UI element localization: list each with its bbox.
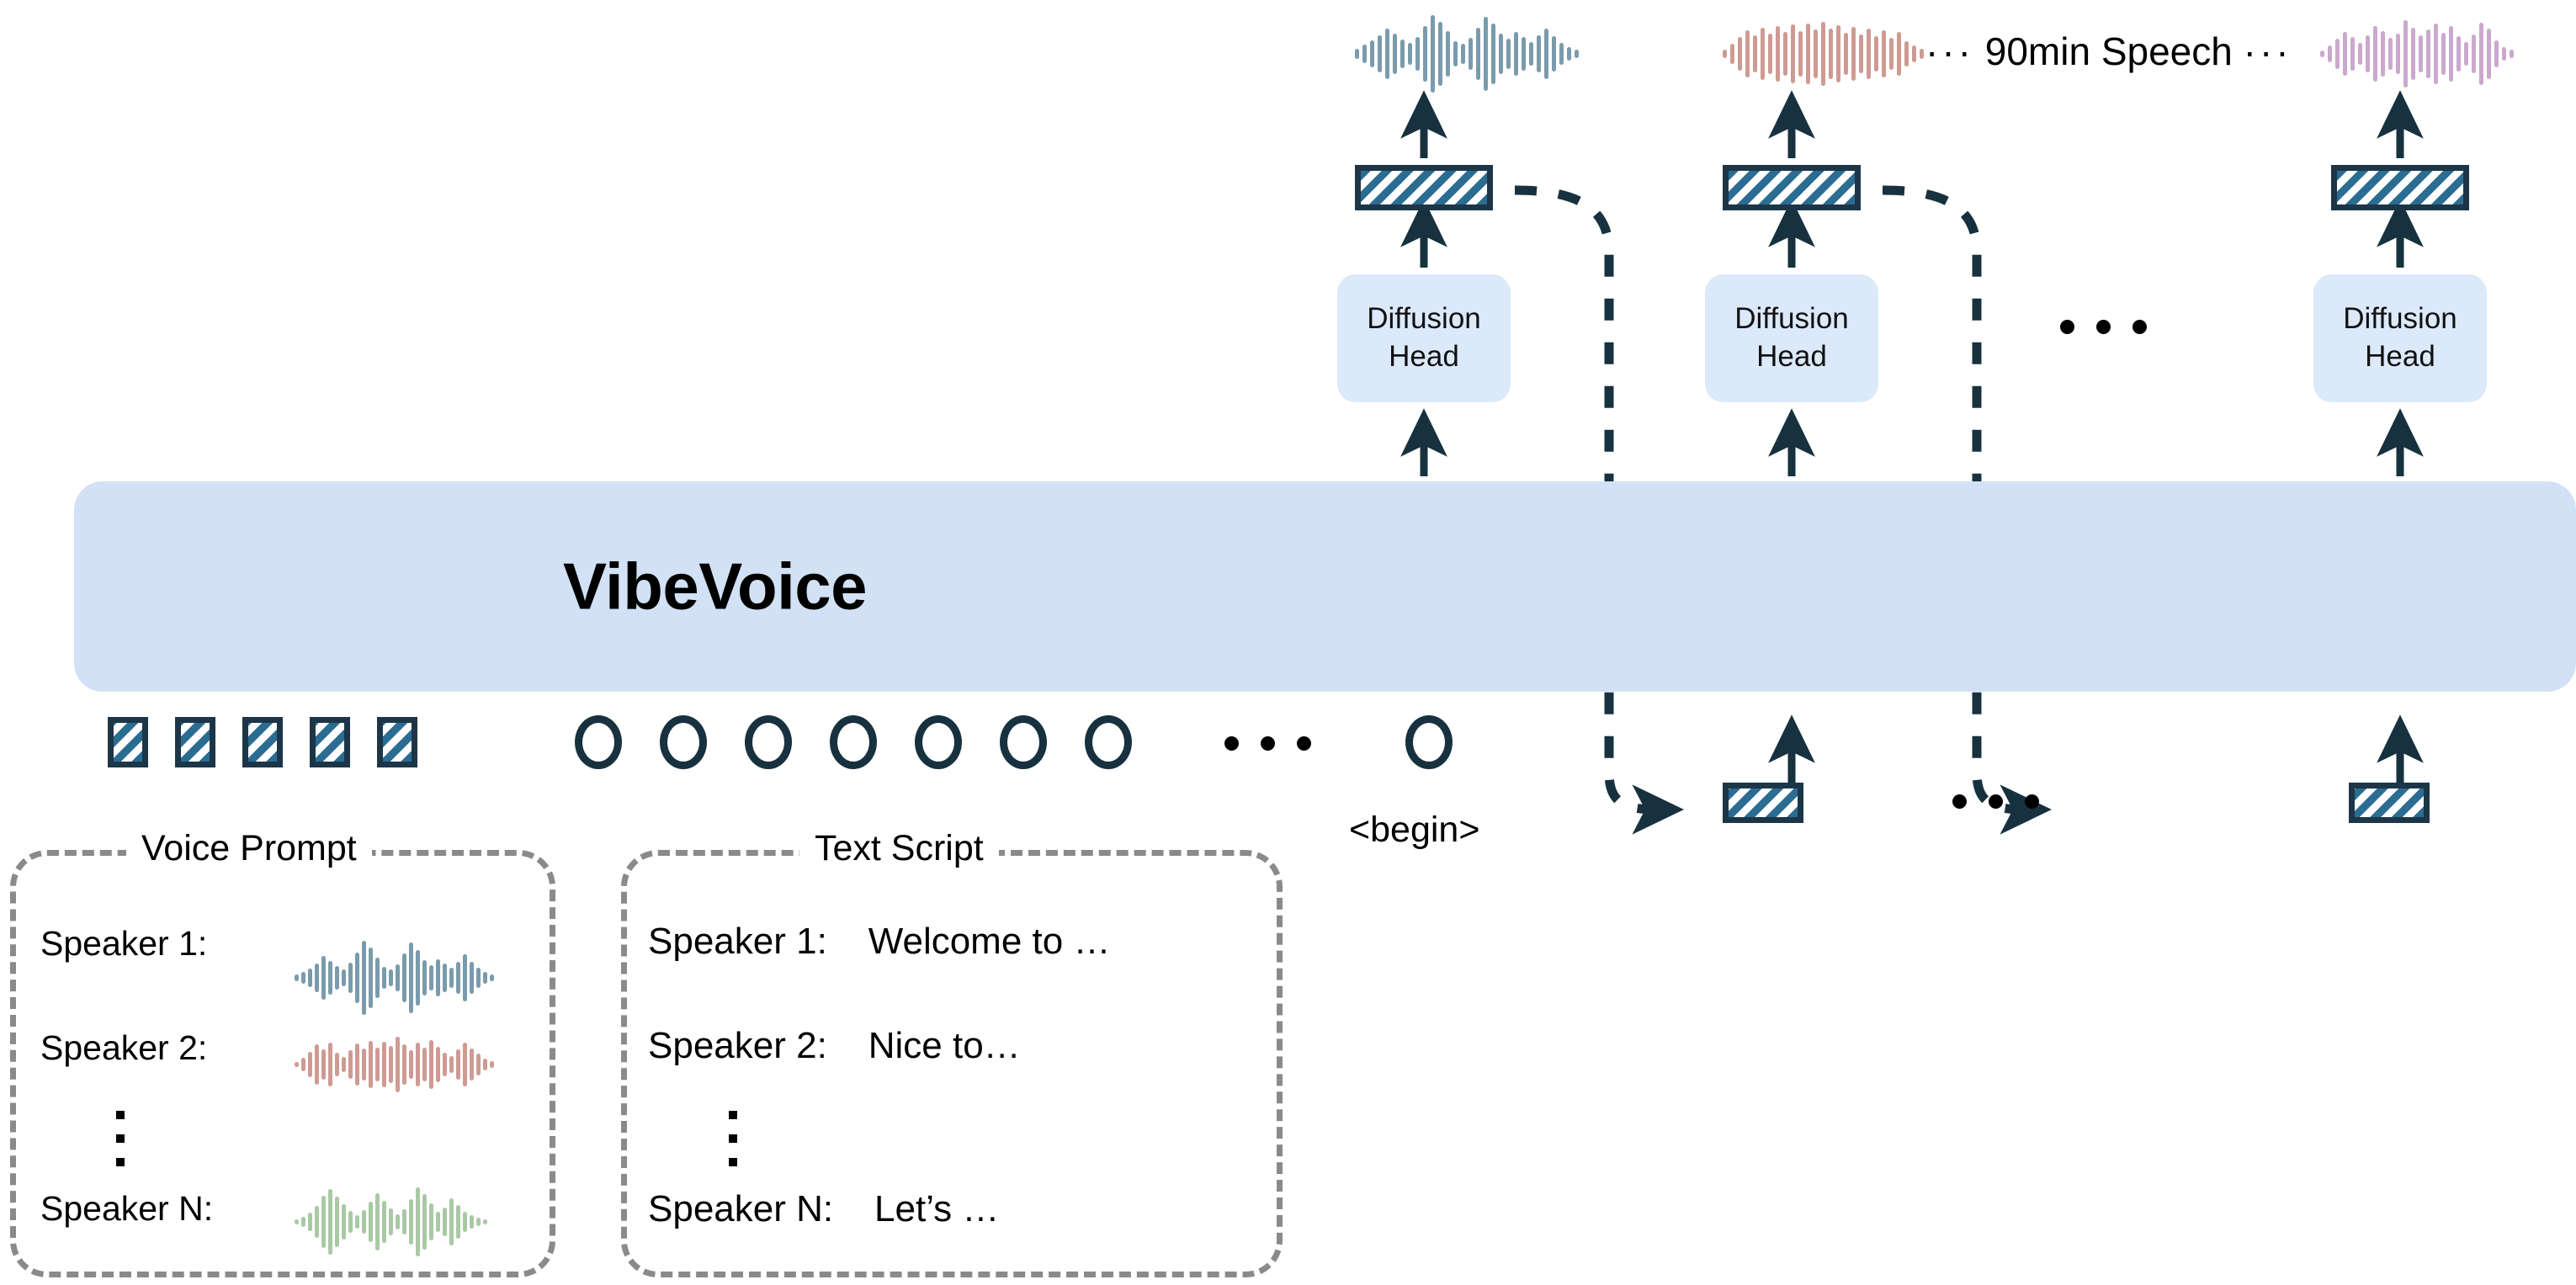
voice-prompt-speaker-1-label: Speaker 1:	[40, 924, 207, 964]
feedback-row-ellipsis	[1952, 794, 2039, 809]
text-token-circle-5	[915, 715, 962, 769]
acoustic-prompt-token-1	[108, 717, 148, 767]
diffusion-head-1[interactable]: Diffusion Head	[1337, 274, 1511, 402]
vibevoice-model-name: VibeVoice	[74, 549, 2576, 625]
output-waveform-2	[1723, 22, 1924, 86]
acoustic-feedback-token-2	[2349, 783, 2430, 823]
acoustic-prompt-token-3	[242, 717, 283, 767]
token-row-ellipsis	[1224, 736, 1311, 751]
diffusion-head-2-line2: Head	[1756, 338, 1827, 376]
text-script-row-2-text: Nice to…	[868, 1025, 1021, 1066]
text-script-title: Text Script	[799, 828, 999, 869]
text-script-vertical-ellipsis	[729, 1111, 737, 1166]
acoustic-token-output-1	[1355, 165, 1493, 210]
vibevoice-model-bar: VibeVoice	[74, 481, 2576, 692]
voice-prompt-speaker-n-label: Speaker N:	[40, 1189, 213, 1229]
caption-right-ellipsis: ···	[2244, 29, 2292, 73]
text-script-row-n-label: Speaker N:	[648, 1188, 833, 1229]
text-token-circle-2	[660, 715, 707, 769]
text-script-row-2-label: Speaker 2:	[648, 1025, 827, 1066]
diffusion-head-3[interactable]: Diffusion Head	[2313, 274, 2487, 402]
begin-token-circle	[1405, 715, 1453, 769]
text-token-circle-6	[1000, 715, 1047, 769]
output-waveform-3	[2320, 20, 2514, 88]
caption-text: 90min Speech	[1985, 29, 2233, 73]
acoustic-prompt-token-2	[175, 717, 215, 767]
text-token-circle-7	[1085, 715, 1132, 769]
acoustic-token-output-2	[1723, 165, 1861, 210]
text-token-circle-4	[830, 715, 877, 769]
acoustic-prompt-token-5	[377, 717, 417, 767]
diffusion-head-3-line2: Head	[2365, 338, 2435, 376]
voice-prompt-speaker-2-label: Speaker 2:	[40, 1028, 207, 1068]
diagram-canvas: ··· 90min Speech ··· Diffusion Head Diff…	[0, 0, 2576, 1285]
text-script-row-1-text: Welcome to …	[868, 921, 1111, 962]
voice-prompt-vertical-ellipsis	[116, 1111, 125, 1166]
acoustic-feedback-token-1	[1723, 783, 1803, 823]
diffusion-head-2[interactable]: Diffusion Head	[1705, 274, 1878, 402]
diffusion-head-3-line1: Diffusion	[2343, 300, 2457, 338]
acoustic-token-output-3	[2331, 165, 2469, 210]
text-token-circle-1	[575, 715, 622, 769]
caption-left-ellipsis: ···	[1925, 29, 1974, 73]
voice-prompt-title: Voice Prompt	[126, 828, 372, 869]
text-script-row-1-label: Speaker 1:	[648, 921, 827, 962]
diffusion-head-1-line1: Diffusion	[1367, 300, 1481, 338]
begin-token-label: <begin>	[1349, 810, 1479, 851]
text-script-row-n: Speaker N: Let’s …	[648, 1188, 999, 1230]
text-script-row-2: Speaker 2: Nice to…	[648, 1025, 1021, 1067]
diffusion-head-2-line1: Diffusion	[1734, 300, 1849, 338]
text-script-row-n-text: Let’s …	[874, 1188, 999, 1229]
diffusion-head-row-ellipsis	[2060, 320, 2147, 334]
acoustic-prompt-token-4	[310, 717, 350, 767]
output-waveform-1	[1355, 15, 1579, 93]
text-token-circle-3	[745, 715, 792, 769]
output-speech-caption: ··· 90min Speech ···	[1925, 29, 2292, 74]
text-script-row-1: Speaker 1: Welcome to …	[648, 921, 1110, 963]
diffusion-head-1-line2: Head	[1389, 338, 1459, 376]
